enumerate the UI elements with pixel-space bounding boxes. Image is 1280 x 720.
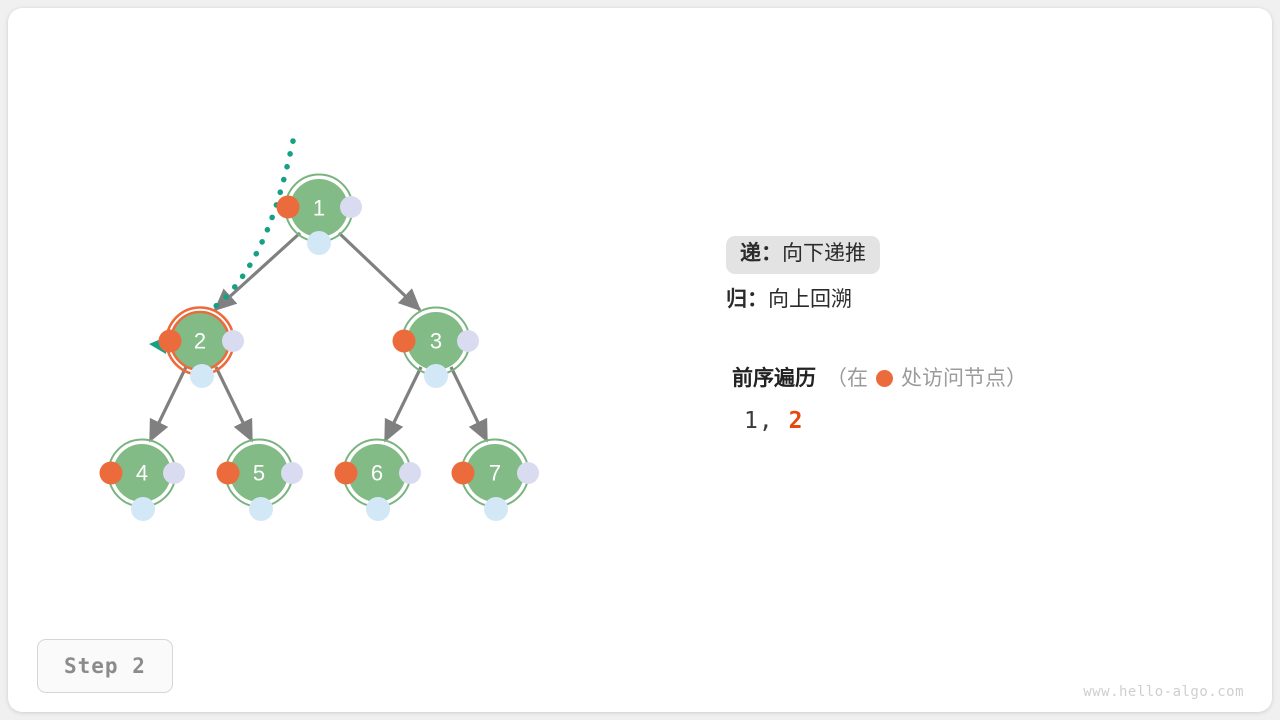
edge-3-7 [451,367,487,441]
site-watermark: www.hello-algo.com [1083,684,1244,700]
node-1-lavender-dot [340,196,362,218]
legend-recurse-prefix: 递： [740,242,782,265]
traversal-sequence-visited: 1, [744,408,774,434]
node-1-label: 1 [313,196,325,221]
node-4-blue-dot [131,497,155,521]
node-4-orange-dot [100,462,123,485]
node-3-label: 3 [430,329,442,354]
legend-return-text: 向上回溯 [768,288,852,311]
traversal-order-panel: 前序遍历 （在 处访问节点） 1, 2 [732,362,1252,434]
orange-dot-icon [876,370,893,387]
node-6-label: 6 [371,461,383,486]
legend-panel: 递：向下递推 归：向上回溯 [726,232,1246,324]
node-5-lavender-dot [281,462,303,484]
traversal-title-close: 处访问节点） [901,362,1027,392]
tree-node-4[interactable]: 4 [100,440,186,522]
node-3-orange-dot [393,330,416,353]
node-6-blue-dot [366,497,390,521]
tree-node-5[interactable]: 5 [217,440,304,522]
node-3-blue-dot [424,364,448,388]
node-2-lavender-dot [222,330,244,352]
node-5-orange-dot [217,462,240,485]
tree-node-6[interactable]: 6 [335,440,422,522]
node-6-orange-dot [335,462,358,485]
node-1-orange-dot [277,196,300,219]
tree-node-7[interactable]: 7 [452,440,540,522]
legend-row-recurse: 递：向下递推 [726,232,1246,278]
edge-2-5 [216,367,252,441]
node-2-orange-dot [159,330,182,353]
step-badge: Step 2 [37,639,173,693]
legend-return-chip: 归：向上回溯 [726,282,866,319]
edge-1-3 [339,233,420,310]
node-4-lavender-dot [163,462,185,484]
node-5-label: 5 [253,461,265,486]
legend-return-prefix: 归： [726,288,768,311]
node-7-orange-dot [452,462,475,485]
node-3-lavender-dot [457,330,479,352]
traversal-title-open: （在 [826,362,868,392]
node-6-lavender-dot [399,462,421,484]
traversal-sequence: 1, 2 [744,408,1252,434]
tree-node-2[interactable]: 2 [159,308,245,389]
node-1-blue-dot [307,231,331,255]
traversal-title: 前序遍历 （在 处访问节点） [732,362,1252,392]
binary-tree-diagram: 1 2 3 4 [0,0,1280,720]
traversal-title-strong: 前序遍历 [732,362,816,392]
node-5-blue-dot [249,497,273,521]
node-2-blue-dot [190,364,214,388]
node-4-label: 4 [136,461,148,486]
edge-2-4 [150,367,186,441]
node-7-lavender-dot [517,462,539,484]
traversal-sequence-current: 2 [789,408,804,434]
tree-node-3[interactable]: 3 [393,308,480,389]
legend-recurse-text: 向下递推 [782,242,866,265]
legend-recurse-chip: 递：向下递推 [726,236,880,273]
legend-row-return: 归：向上回溯 [726,278,1246,324]
node-7-blue-dot [484,497,508,521]
node-7-label: 7 [489,461,501,486]
edge-3-6 [385,367,421,441]
node-2-label: 2 [194,329,206,354]
diagram-canvas: 1 2 3 4 [0,0,1280,720]
